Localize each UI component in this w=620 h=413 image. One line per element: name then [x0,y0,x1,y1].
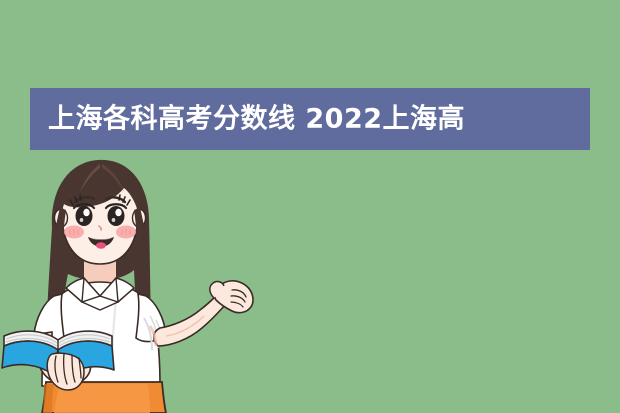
schoolgirl-illustration [0,150,300,413]
article-thumbnail-card: 上海各科高考分数线 2022上海高 [0,0,620,413]
page-title: 上海各科高考分数线 2022上海高 [48,106,465,133]
title-banner: 上海各科高考分数线 2022上海高 [30,88,590,150]
